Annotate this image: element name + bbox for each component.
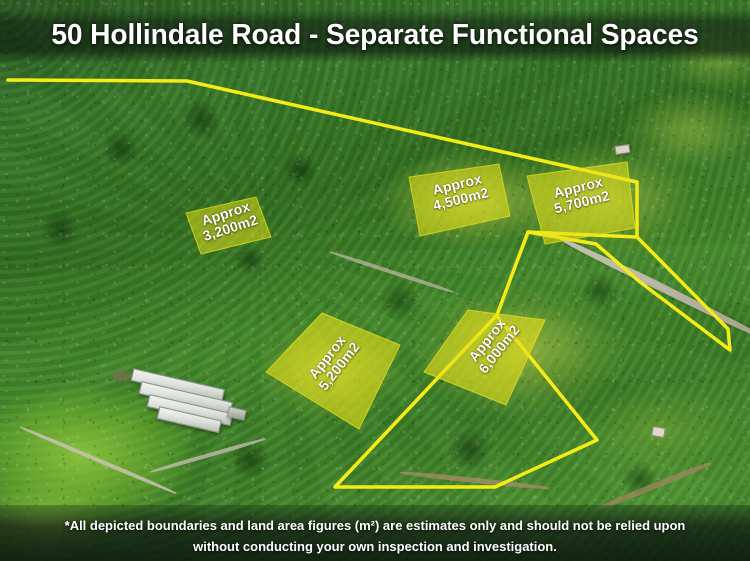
property-map-screenshot: Approx 3,200m2 Approx 4,500m2 Approx 5,7…: [0, 0, 750, 561]
parcel-polygon-3200[interactable]: [186, 197, 271, 254]
page-title: 50 Hollindale Road - Separate Functional…: [11, 12, 739, 58]
disclaimer-line-2: without conducting your own inspection a…: [12, 537, 739, 557]
site-boundary-main: [8, 80, 637, 487]
parcel-polygon-6000[interactable]: [424, 310, 545, 405]
disclaimer-line-1: *All depicted boundaries and land area f…: [12, 516, 739, 536]
boundary-overlay: [0, 0, 750, 561]
parcel-polygon-5200[interactable]: [266, 313, 400, 429]
parcel-polygon-4500[interactable]: [409, 164, 510, 236]
driveway-corridor-boundary: [596, 237, 730, 350]
disclaimer-text: *All depicted boundaries and land area f…: [6, 516, 745, 557]
parcel-polygon-5700[interactable]: [527, 162, 635, 244]
